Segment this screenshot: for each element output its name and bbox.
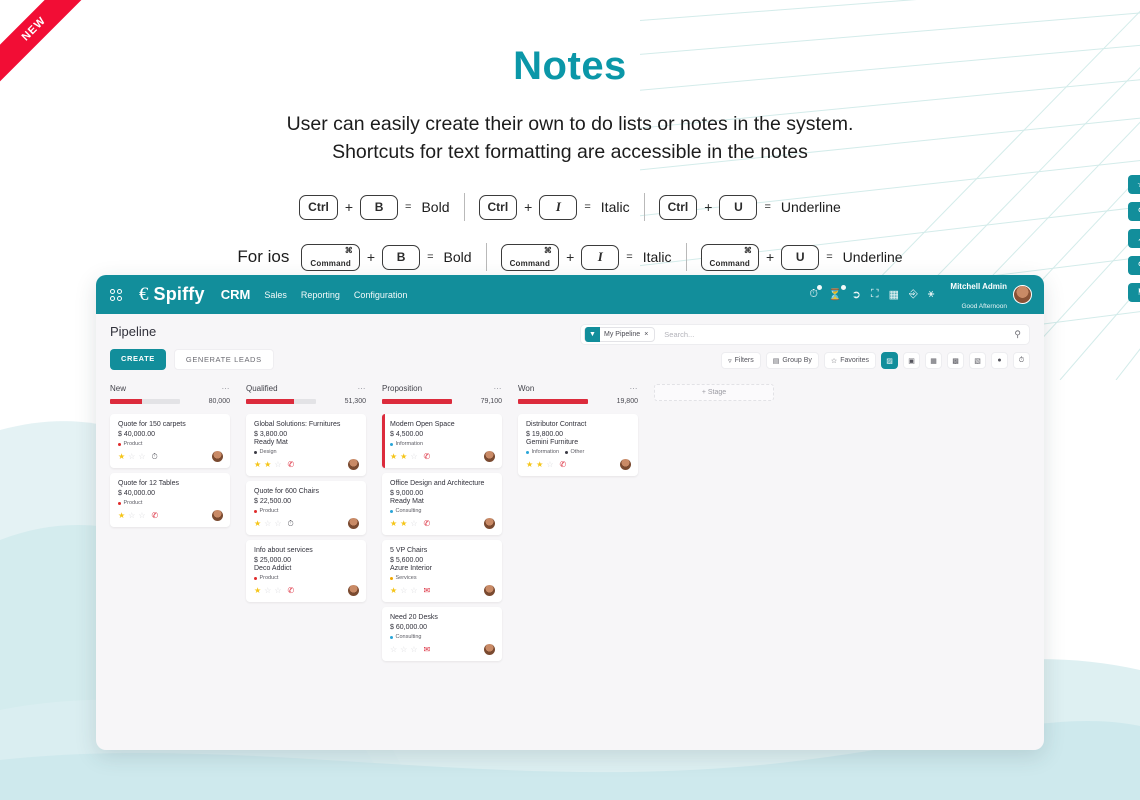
shortcut-divider [686,243,687,271]
funnel-icon: ▼ [585,327,600,342]
shortcut-result-bold: Bold [444,249,472,265]
app-name-crm[interactable]: CRM [221,287,251,302]
shortcut-divider [464,193,465,221]
card-tag: Other [565,449,584,455]
card-tag: Consulting [390,634,422,640]
filters-label: Filters [735,357,754,364]
card-tag-label: Design [260,449,277,455]
card-footer: ★☆☆⏱ [118,451,223,462]
card-avatar[interactable] [348,585,359,596]
card-title: Global Solutions: Furnitures [254,420,359,429]
shortcut-divider [644,193,645,221]
shortcut-result-italic: Italic [601,199,630,215]
kanban-column-menu-icon[interactable]: ⋯ [358,384,367,393]
star-icon[interactable]: ★ [264,460,271,469]
rail-star-icon[interactable]: ☆ [1128,175,1140,194]
card-tag-label: Services [396,575,417,581]
kanban-column: New⋯80,000Quote for 150 carpets$ 40,000.… [110,384,230,661]
user-name: Mitchell Admin [950,282,1007,291]
pivot-icon: ▩ [952,357,959,365]
card-tag-label: Consulting [396,634,422,640]
kanban-column-total: 19,800 [617,398,638,405]
card-tag-label: Product [260,575,279,581]
kanban-card[interactable]: Office Design and Architecture$ 9,000.00… [382,473,502,535]
search-input[interactable]: Search... [655,330,1014,339]
spiffy-mark-icon: € [139,285,149,304]
plus-sign: + [766,249,774,265]
kanban-column-header: Proposition⋯ [382,384,502,393]
command-glyph-icon: ⌘ [345,246,353,255]
breadcrumb-pipeline: Pipeline [110,324,274,339]
key-ctrl: Ctrl [299,195,338,220]
facet-label: My Pipeline [604,331,640,338]
card-avatar[interactable] [484,451,495,462]
kanban-column: Won⋯19,800Distributor Contract$ 19,800.0… [518,384,638,661]
kanban-column-menu-icon[interactable]: ⋯ [222,384,231,393]
card-footer: ★★☆✆ [254,459,359,470]
card-phone-icon[interactable]: ✆ [152,511,159,520]
shortcut-row-mac: For ios ⌘ Command + B = Bold ⌘ Command +… [0,236,1140,278]
card-footer: ★★☆✆ [526,459,631,470]
equals-sign: = [764,201,770,213]
kanban-card-list: Quote for 150 carpets$ 40,000.00Product★… [110,414,230,527]
top-menu: Sales Reporting Configuration [264,290,407,300]
card-title: Office Design and Architecture [390,479,495,488]
kanban-icon: ▨ [886,357,893,365]
activity-clock-icon: ⏱ [1019,357,1024,365]
star-icon[interactable]: ☆ [410,586,417,595]
kanban-card[interactable]: Quote for 150 carpets$ 40,000.00Product★… [110,414,230,468]
map-pin-icon: ● [997,357,1001,364]
user-greeting: Good Afternoon [961,303,1007,310]
card-tag: Services [390,575,417,581]
key-command: ⌘ Command [301,244,360,271]
card-amount: $ 19,800.00 [526,431,631,438]
kanban-column-total: 80,000 [209,398,230,405]
star-icon[interactable]: ☆ [410,519,417,528]
card-tag-label: Product [260,508,279,514]
kanban-column-header: Qualified⋯ [246,384,366,393]
kanban-column-progress: 80,000 [110,398,230,405]
star-icon[interactable]: ★ [118,511,125,520]
card-tag-label: Product [124,500,143,506]
subtitle-line-1: User can easily create their own to do l… [0,111,1140,139]
activity-icon[interactable]: ⏱ [809,288,818,301]
card-tags: Consulting [390,634,495,640]
new-ribbon: NEW [0,0,96,96]
kanban-column-header: Won⋯ [518,384,638,393]
apps-grid-icon[interactable] [110,289,123,301]
key-b: B [360,195,398,220]
card-tag: Product [254,508,278,514]
kanban-column-title: New [110,384,126,393]
card-rating[interactable]: ★★☆ [390,452,418,461]
kanban-column-menu-icon[interactable]: ⋯ [630,384,639,393]
card-avatar[interactable] [348,459,359,470]
star-icon[interactable]: ☆ [390,645,397,654]
key-i: I [539,195,577,220]
star-icon[interactable]: ☆ [274,519,281,528]
card-tag-label: Product [124,441,143,447]
card-amount: $ 40,000.00 [118,431,223,438]
card-tags: Product [118,500,223,506]
shortcut-italic-windows: Ctrl + I = Italic [479,195,630,220]
card-mail-icon[interactable]: ✉ [424,586,431,595]
kanban-column-total: 51,300 [345,398,366,405]
card-avatar[interactable] [212,510,223,521]
graph-view-button[interactable]: ▧ [969,352,986,369]
card-tags: Services [390,575,495,581]
kanban-column-title: Won [518,384,534,393]
key-u: U [719,195,757,220]
card-tags: Design [254,449,359,455]
key-command: ⌘ Command [501,244,560,271]
star-icon[interactable]: ★ [400,452,407,461]
card-amount: $ 22,500.00 [254,498,359,505]
kanban-card-list: Distributor Contract$ 19,800.00Gemini Fu… [518,414,638,476]
card-rating[interactable]: ★★☆ [526,460,554,469]
star-icon[interactable]: ★ [254,460,261,469]
card-tag: Product [118,500,142,506]
user-menu[interactable]: Mitchell Admin Good Afternoon [950,276,1032,313]
kanban-card[interactable]: 5 VP Chairs$ 5,600.00Azure InteriorServi… [382,540,502,602]
bulb-icon[interactable]: ⚹ [928,288,935,301]
card-footer: ★☆☆⏱ [254,518,359,529]
equals-sign: = [584,201,590,213]
card-avatar[interactable] [484,644,495,655]
card-tag: Product [254,575,278,581]
card-partner: Azure Interior [390,565,495,572]
card-amount: $ 3,800.00 [254,431,359,438]
card-partner: Gemini Furniture [526,439,631,446]
control-bar: Pipeline CREATE GENERATE LEADS ▼ My Pipe… [96,314,1044,370]
kanban-card-list: Global Solutions: Furnitures$ 3,800.00Re… [246,414,366,602]
card-tags: Product [254,508,359,514]
kanban-card-list: Modern Open Space$ 4,500.00Information★★… [382,414,502,661]
star-icon[interactable]: ☆ [264,586,271,595]
card-tags: Product [118,441,223,447]
search-area: ▼ My Pipeline × Search... ⚲ ▿ Filters ▤ … [580,324,1030,369]
translate-icon[interactable]: ➲ [852,288,861,301]
kanban-column-header: New⋯ [110,384,230,393]
card-amount: $ 5,600.00 [390,557,495,564]
page-title: Notes [0,44,1140,89]
card-footer: ★★☆✆ [390,518,495,529]
key-command-label: Command [710,259,751,268]
card-avatar[interactable] [484,585,495,596]
card-tag-label: Information [396,441,424,447]
kanban-column-progress: 79,100 [382,398,502,405]
progress-bar [246,399,316,404]
star-icon: ☆ [831,357,837,365]
card-tag: Information [390,441,423,447]
card-title: Info about services [254,546,359,555]
kanban-card[interactable]: Global Solutions: Furnitures$ 3,800.00Re… [246,414,366,476]
star-icon[interactable]: ☆ [410,452,417,461]
shortcut-result-italic: Italic [643,249,672,265]
star-icon[interactable]: ★ [118,452,125,461]
shortcut-result-underline: Underline [781,199,841,215]
plus-sign: + [524,199,532,215]
card-footer: ★☆☆✆ [254,585,359,596]
key-command: ⌘ Command [701,244,760,271]
card-tag: Consulting [390,508,422,514]
card-clock-icon[interactable]: ⏱ [288,519,294,529]
subtitle-line-2: Shortcuts for text formatting are access… [0,139,1140,167]
app-window: € Spiffy CRM Sales Reporting Configurati… [96,275,1044,750]
kanban-view-button[interactable]: ▨ [881,352,898,369]
card-partner: Deco Addict [254,565,359,572]
card-title: Quote for 12 Tables [118,479,223,488]
card-avatar[interactable] [212,451,223,462]
menu-item-reporting[interactable]: Reporting [301,290,340,300]
card-amount: $ 60,000.00 [390,624,495,631]
kanban-column-progress: 19,800 [518,398,638,405]
star-icon[interactable]: ★ [254,586,261,595]
card-amount: $ 25,000.00 [254,557,359,564]
key-command-label: Command [310,259,351,268]
star-icon[interactable]: ★ [526,460,533,469]
app-topbar: € Spiffy CRM Sales Reporting Configurati… [96,275,1044,314]
list-view-button[interactable]: ▣ [903,352,920,369]
card-rating[interactable]: ★★☆ [254,460,282,469]
rail-expand-icon[interactable]: ↗ [1128,229,1140,248]
topbar-right-group: ⏱ ⏳ ➲ ⛶ ▦ ⎆ ⚹ Mitchell Admin Good Aftern… [809,276,1032,313]
equals-sign: = [405,201,411,213]
card-avatar[interactable] [484,518,495,529]
plus-sign: + [704,199,712,215]
equals-sign: = [427,251,433,263]
kanban-column: Qualified⋯51,300Global Solutions: Furnit… [246,384,366,661]
shortcut-result-bold: Bold [421,199,449,215]
card-phone-icon[interactable]: ✆ [424,452,431,461]
star-icon[interactable]: ☆ [128,452,135,461]
star-icon[interactable]: ☆ [274,460,281,469]
for-ios-label: For ios [237,247,289,267]
funnel-icon: ▿ [728,357,732,365]
card-footer: ★☆☆✉ [390,585,495,596]
card-rating[interactable]: ★☆☆ [390,586,418,595]
activity-view-button[interactable]: ⏱ [1013,352,1030,369]
card-rating[interactable]: ☆☆☆ [390,645,418,654]
favorites-label: Favorites [840,357,869,364]
star-icon[interactable]: ☆ [264,519,271,528]
search-icon[interactable]: ⚲ [1014,329,1021,340]
star-icon[interactable]: ☆ [410,645,417,654]
calendar-icon: ▦ [930,357,937,365]
kanban-card[interactable]: Quote for 600 Chairs$ 22,500.00Product★☆… [246,481,366,535]
card-tag-label: Other [571,449,585,455]
search-bar[interactable]: ▼ My Pipeline × Search... ⚲ [580,324,1030,345]
plus-sign: + [566,249,574,265]
card-avatar[interactable] [348,518,359,529]
rail-bookmark-icon[interactable]: ⚑ [1128,283,1140,302]
menu-item-configuration[interactable]: Configuration [354,290,408,300]
star-icon[interactable]: ☆ [128,511,135,520]
star-icon[interactable]: ☆ [400,645,407,654]
shortcut-underline-windows: Ctrl + U = Underline [659,195,841,220]
shortcut-bold-windows: Ctrl + B = Bold [299,195,449,220]
star-icon[interactable]: ★ [390,452,397,461]
card-rating[interactable]: ★★☆ [390,519,418,528]
progress-bar [110,399,180,404]
star-icon[interactable]: ★ [254,519,261,528]
star-icon[interactable]: ☆ [138,452,145,461]
star-icon[interactable]: ★ [536,460,543,469]
card-title: Distributor Contract [526,420,631,429]
headline-section: Notes User can easily create their own t… [0,0,1140,166]
calendar-view-button[interactable]: ▦ [925,352,942,369]
card-amount: $ 9,000.00 [390,490,495,497]
group-by-label: Group By [782,357,812,364]
card-title: 5 VP Chairs [390,546,495,555]
list-icon: ▣ [908,357,915,365]
star-icon[interactable]: ☆ [274,586,281,595]
card-rating[interactable]: ★☆☆ [254,519,282,528]
control-bar-top: Pipeline CREATE GENERATE LEADS ▼ My Pipe… [110,324,1030,370]
card-phone-icon[interactable]: ✆ [560,460,567,469]
grid-icon[interactable]: ▦ [889,288,899,301]
rail-zoom-icon[interactable]: ⚲ [1128,256,1140,275]
brand-logo[interactable]: € Spiffy [139,284,205,305]
rail-search-icon[interactable]: ⚲ [1128,202,1140,221]
favorites-button[interactable]: ☆ Favorites [824,352,876,369]
kanban-card[interactable]: Info about services$ 25,000.00Deco Addic… [246,540,366,602]
card-partner: Ready Mat [254,439,359,446]
brand-name: Spiffy [154,284,205,305]
card-tag: Product [118,441,142,447]
shortcut-bold-mac: ⌘ Command + B = Bold [301,244,471,271]
pivot-view-button[interactable]: ▩ [947,352,964,369]
user-text: Mitchell Admin Good Afternoon [950,276,1007,313]
card-title: Need 20 Desks [390,613,495,622]
card-rating[interactable]: ★☆☆ [118,511,146,520]
key-command-label: Command [510,259,551,268]
card-avatar[interactable] [620,459,631,470]
kanban-column-progress: 51,300 [246,398,366,405]
card-phone-icon[interactable]: ✆ [424,519,431,528]
card-footer: ☆☆☆✉ [390,644,495,655]
card-mail-icon[interactable]: ✉ [424,645,431,654]
kanban-column-title: Proposition [382,384,422,393]
view-switcher: ▿ Filters ▤ Group By ☆ Favorites ▨ ▣ ▦ ▩ [580,352,1030,369]
action-buttons: CREATE GENERATE LEADS [110,349,274,370]
star-icon[interactable]: ★ [400,519,407,528]
card-partner: Ready Mat [390,498,495,505]
star-icon[interactable]: ★ [390,586,397,595]
avatar[interactable] [1013,285,1032,304]
kanban-card[interactable]: Modern Open Space$ 4,500.00Information★★… [382,414,502,468]
add-stage-button[interactable]: + Stage [654,384,774,401]
command-glyph-icon: ⌘ [544,246,552,255]
shortcuts-section: Ctrl + B = Bold Ctrl + I = Italic Ctrl +… [0,186,1140,278]
card-phone-icon[interactable]: ✆ [288,460,295,469]
progress-bar [518,399,588,404]
kanban-column: Proposition⋯79,100Modern Open Space$ 4,5… [382,384,502,661]
new-ribbon-label: NEW [0,0,96,91]
kanban-card[interactable]: Distributor Contract$ 19,800.00Gemini Fu… [518,414,638,476]
kanban-card[interactable]: Need 20 Desks$ 60,000.00Consulting☆☆☆✉ [382,607,502,661]
filters-button[interactable]: ▿ Filters [721,352,761,369]
card-footer: ★☆☆✆ [118,510,223,521]
progress-bar [382,399,452,404]
card-title: Modern Open Space [390,420,495,429]
card-tag-label: Information [532,449,560,455]
card-tag: Information [526,449,559,455]
star-icon[interactable]: ★ [390,519,397,528]
equals-sign: = [826,251,832,263]
kanban-column-menu-icon[interactable]: ⋯ [494,384,503,393]
card-tags: Consulting [390,508,495,514]
card-tags: Information [390,441,495,447]
card-amount: $ 4,500.00 [390,431,495,438]
layers-icon: ▤ [773,357,780,365]
command-glyph-icon: ⌘ [744,246,752,255]
equals-sign: = [626,251,632,263]
key-b: B [382,245,420,270]
key-u: U [781,245,819,270]
shortcut-divider [486,243,487,271]
map-view-button[interactable]: ● [991,352,1008,369]
card-amount: $ 40,000.00 [118,490,223,497]
kanban-board: New⋯80,000Quote for 150 carpets$ 40,000.… [96,370,1044,661]
card-clock-icon[interactable]: ⏱ [152,452,158,462]
kanban-column-title: Qualified [246,384,278,393]
kanban-column-total: 79,100 [481,398,502,405]
card-rating[interactable]: ★☆☆ [254,586,282,595]
filter-icon[interactable]: ⎆ [909,288,918,301]
key-ctrl: Ctrl [659,195,698,220]
shortcut-result-underline: Underline [843,249,903,265]
shortcut-italic-mac: ⌘ Command + I = Italic [501,244,672,271]
card-title: Quote for 150 carpets [118,420,223,429]
group-by-button[interactable]: ▤ Group By [766,352,819,369]
control-bar-left: Pipeline CREATE GENERATE LEADS [110,324,274,370]
shop-icon[interactable]: ⛶ [871,288,879,301]
card-tags: InformationOther [526,449,631,455]
card-tag: Design [254,449,277,455]
plus-sign: + [345,199,353,215]
messages-icon[interactable]: ⏳ [828,288,842,301]
generate-leads-button[interactable]: GENERATE LEADS [174,349,274,370]
card-tags: Product [254,575,359,581]
plus-sign: + [367,249,375,265]
page-subtitle: User can easily create their own to do l… [0,111,1140,166]
facet-my-pipeline[interactable]: ▼ My Pipeline × [584,327,655,342]
shortcut-underline-mac: ⌘ Command + U = Underline [701,244,903,271]
star-icon[interactable]: ☆ [400,586,407,595]
facet-remove-icon[interactable]: × [644,331,648,338]
floating-side-rail: ☆ ⚲ ↗ ⚲ ⚑ [1128,175,1140,302]
star-icon[interactable]: ☆ [138,511,145,520]
card-tag-label: Consulting [396,508,422,514]
key-ctrl: Ctrl [479,195,518,220]
create-button[interactable]: CREATE [110,349,166,370]
star-icon[interactable]: ☆ [546,460,553,469]
kanban-card[interactable]: Quote for 12 Tables$ 40,000.00Product★☆☆… [110,473,230,527]
shortcut-row-windows: Ctrl + B = Bold Ctrl + I = Italic Ctrl +… [0,186,1140,228]
card-title: Quote for 600 Chairs [254,487,359,496]
menu-item-sales[interactable]: Sales [264,290,287,300]
card-phone-icon[interactable]: ✆ [288,586,295,595]
graph-icon: ▧ [974,357,981,365]
card-footer: ★★☆✆ [390,451,495,462]
card-rating[interactable]: ★☆☆ [118,452,146,461]
key-i: I [581,245,619,270]
